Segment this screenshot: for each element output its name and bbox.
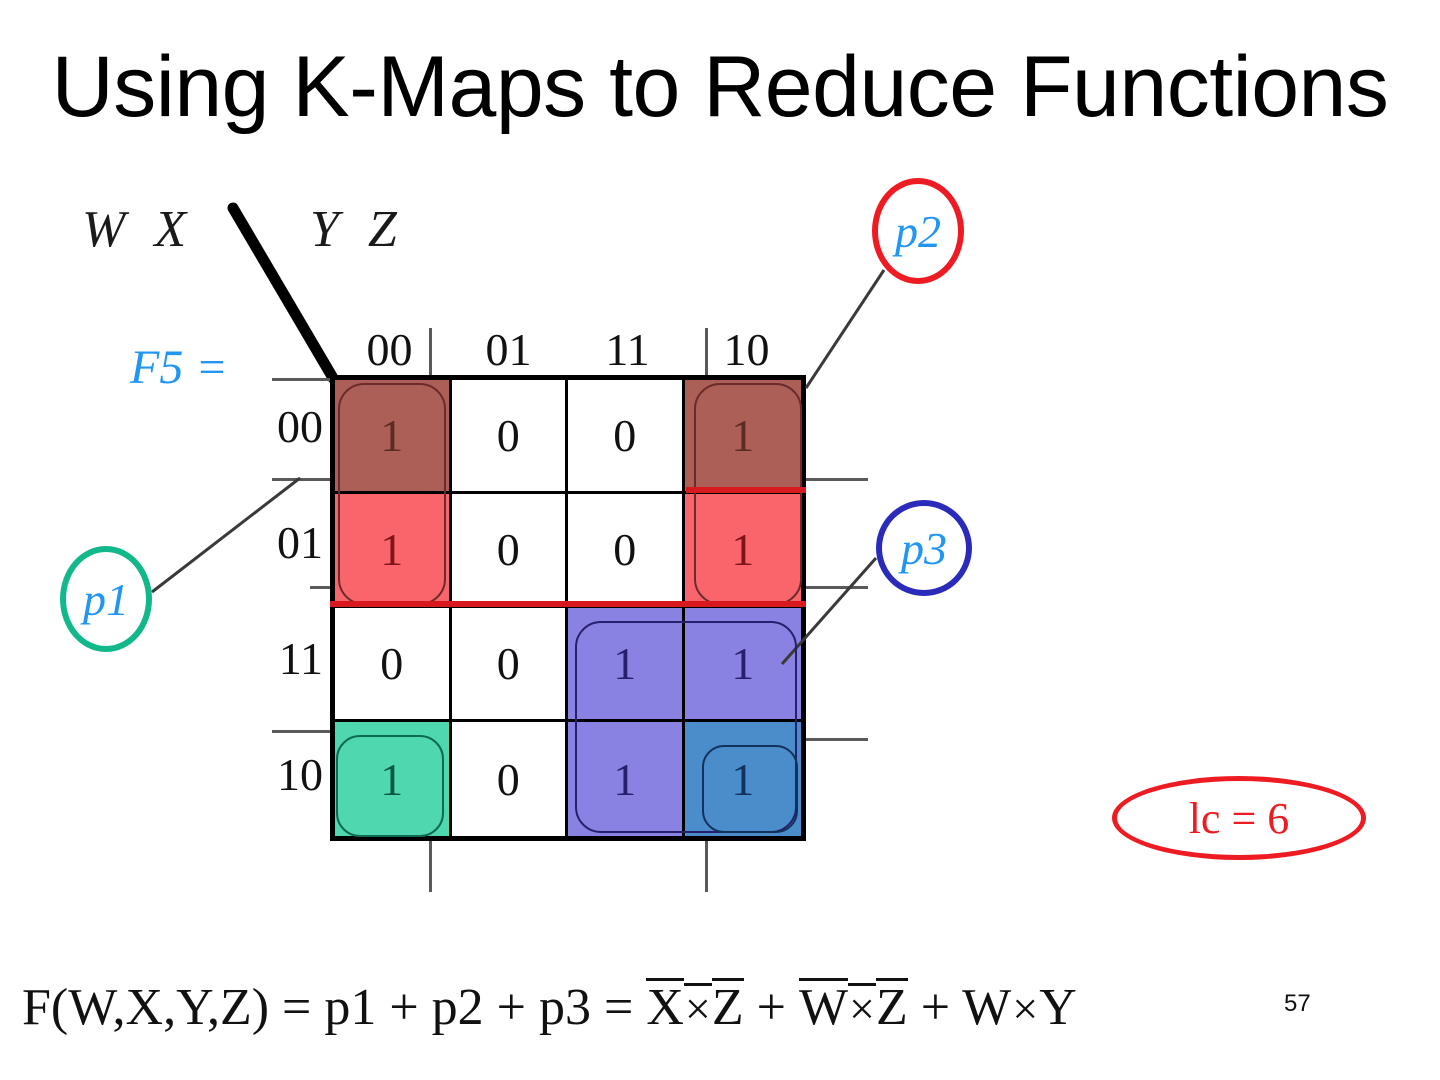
tick-col-0-bottom bbox=[429, 840, 432, 892]
row-header-1: 01 bbox=[243, 516, 323, 569]
kmap-cell-r2c0[interactable]: 0 bbox=[335, 608, 452, 722]
formula-term0-a: X bbox=[646, 978, 684, 1034]
formula-plus-1: + bbox=[921, 979, 950, 1036]
formula-term2-b: Y bbox=[1039, 979, 1077, 1036]
row-header-2: 11 bbox=[243, 632, 323, 685]
cell-value: 1 bbox=[613, 637, 636, 690]
formula-term1-b: Z bbox=[876, 978, 908, 1034]
cell-value: 1 bbox=[731, 637, 754, 690]
cell-value: 1 bbox=[613, 753, 636, 806]
cell-value: 0 bbox=[497, 409, 520, 462]
tick-col-3 bbox=[705, 328, 708, 380]
literal-count-badge: lc = 6 bbox=[1112, 776, 1366, 860]
kmap-cell-r0c1[interactable]: 0 bbox=[452, 380, 569, 494]
kmap-cell-r3c2[interactable]: 1 bbox=[568, 722, 685, 836]
kmap-cell-r2c3[interactable]: 1 bbox=[685, 608, 802, 722]
cell-value: 1 bbox=[731, 753, 754, 806]
callout-p2[interactable]: p2 bbox=[872, 178, 964, 284]
formula-lhs: F(W,X,Y,Z) = p1 + p2 + p3 = bbox=[22, 979, 646, 1036]
tick-row-1-left bbox=[272, 478, 334, 481]
cell-value: 0 bbox=[380, 637, 403, 690]
kmap-cell-r1c3[interactable]: 1 bbox=[685, 494, 802, 608]
callout-p1-label: p1 bbox=[83, 573, 129, 626]
tick-row-3-left bbox=[272, 730, 334, 733]
row-header-0: 00 bbox=[243, 400, 323, 453]
formula-term0-b: Z bbox=[712, 978, 744, 1034]
cell-value: 1 bbox=[380, 523, 403, 576]
kmap-cell-r0c2[interactable]: 0 bbox=[568, 380, 685, 494]
row-header-3: 10 bbox=[243, 748, 323, 801]
tick-row-0-right bbox=[806, 478, 868, 481]
cell-value: 0 bbox=[613, 409, 636, 462]
tick-row-0-left bbox=[272, 378, 334, 381]
kmap-cell-r1c0[interactable]: 1 bbox=[335, 494, 452, 608]
tick-col-3-bottom bbox=[705, 840, 708, 892]
tick-row-1-right bbox=[806, 586, 868, 589]
formula-term1-op: × bbox=[848, 983, 876, 1032]
cell-value: 1 bbox=[731, 523, 754, 576]
kmap-cell-r3c0[interactable]: 1 bbox=[335, 722, 452, 836]
formula-plus-0: + bbox=[757, 979, 786, 1036]
cell-value: 1 bbox=[380, 753, 403, 806]
axis-divider-line bbox=[225, 200, 345, 385]
page-title: Using K-Maps to Reduce Functions bbox=[0, 44, 1440, 130]
kmap-cell-r1c2[interactable]: 0 bbox=[568, 494, 685, 608]
callout-p3[interactable]: p3 bbox=[876, 500, 972, 596]
formula-term2-op: × bbox=[1011, 983, 1039, 1034]
cell-value: 1 bbox=[731, 409, 754, 462]
group-band-red-top bbox=[686, 487, 806, 493]
kmap-cell-r0c0[interactable]: 1 bbox=[335, 380, 452, 494]
kmap-cell-r2c1[interactable]: 0 bbox=[452, 608, 569, 722]
kmap-cell-r3c3[interactable]: 1 bbox=[685, 722, 802, 836]
literal-count-label: lc = 6 bbox=[1189, 793, 1290, 844]
kmap-cell-r1c1[interactable]: 0 bbox=[452, 494, 569, 608]
function-expression: F(W,X,Y,Z) = p1 + p2 + p3 = X×Z + W×Z + … bbox=[22, 978, 1077, 1034]
callout-p2-label: p2 bbox=[895, 205, 941, 258]
formula-term1-a: W bbox=[799, 978, 848, 1034]
slide-canvas: Using K-Maps to Reduce Functions W X Y Z… bbox=[0, 0, 1440, 1080]
kmap-cell-r3c1[interactable]: 0 bbox=[452, 722, 569, 836]
callout-p3-label: p3 bbox=[901, 522, 947, 575]
karnaugh-map: 1 0 0 1 1 0 0 1 bbox=[330, 375, 806, 841]
column-header-1: 01 bbox=[449, 323, 568, 376]
formula-term0-op: × bbox=[684, 983, 712, 1032]
cell-value: 0 bbox=[497, 753, 520, 806]
column-header-2: 11 bbox=[568, 323, 687, 376]
function-name-label: F5 = bbox=[130, 340, 228, 395]
cell-value: 0 bbox=[613, 523, 636, 576]
group-band-red-bottom bbox=[330, 601, 806, 607]
callout-p1[interactable]: p1 bbox=[60, 546, 152, 652]
cell-value: 1 bbox=[380, 409, 403, 462]
formula-term2-a: W bbox=[962, 979, 1011, 1036]
row-variable-label: W X bbox=[82, 200, 194, 259]
cell-value: 0 bbox=[497, 637, 520, 690]
tick-row-3-right bbox=[806, 738, 868, 741]
cell-value: 0 bbox=[497, 523, 520, 576]
tick-col-0 bbox=[429, 328, 432, 380]
kmap-cell-r0c3[interactable]: 1 bbox=[685, 380, 802, 494]
kmap-grid: 1 0 0 1 1 0 0 1 bbox=[330, 375, 806, 841]
kmap-cell-r2c2[interactable]: 1 bbox=[568, 608, 685, 722]
page-number: 57 bbox=[1284, 990, 1311, 1018]
